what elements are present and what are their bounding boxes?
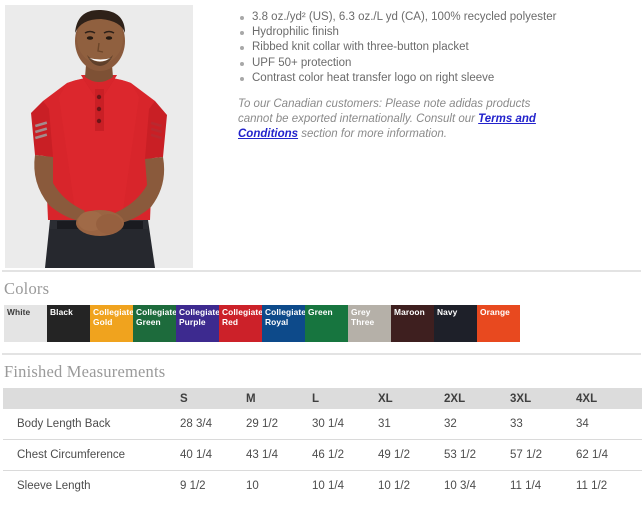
cell-value: 32 (444, 409, 510, 440)
color-swatch-label: Collegiate Gold (93, 307, 132, 327)
cell-value: 9 1/2 (180, 471, 246, 502)
cell-value: 30 1/4 (312, 409, 378, 440)
color-swatch[interactable]: Orange (477, 305, 520, 342)
color-swatch-row: White Black Collegiate Gold Collegiate G… (4, 305, 643, 342)
cell-value: 62 1/4 (576, 440, 642, 471)
list-item: Ribbed knit collar with three-button pla… (238, 40, 633, 55)
color-swatch[interactable]: White (4, 305, 47, 342)
color-swatch-label: Collegiate Purple (179, 307, 218, 327)
list-item: Contrast color heat transfer logo on rig… (238, 71, 633, 86)
product-photo[interactable] (5, 5, 193, 268)
list-item: Hydrophilic finish (238, 25, 633, 40)
color-swatch[interactable]: Collegiate Purple (176, 305, 219, 342)
table-header-row: S M L XL 2XL 3XL 4XL (3, 388, 642, 409)
row-label: Body Length Back (3, 409, 180, 440)
cell-value: 31 (378, 409, 444, 440)
measurements-heading: Finished Measurements (0, 355, 643, 388)
column-header-l: L (312, 388, 378, 409)
spec-text: Ribbed knit collar with three-button pla… (252, 41, 469, 53)
bullet-icon (240, 46, 244, 50)
cell-value: 46 1/2 (312, 440, 378, 471)
cell-value: 11 1/2 (576, 471, 642, 502)
table-row: Chest Circumference 40 1/4 43 1/4 46 1/2… (3, 440, 642, 471)
spec-text: UPF 50+ protection (252, 57, 351, 69)
canadian-customers-note: To our Canadian customers: Please note a… (238, 97, 568, 143)
row-label: Chest Circumference (3, 440, 180, 471)
color-swatch[interactable]: Black (47, 305, 90, 342)
spec-text: 3.8 oz./yd² (US), 6.3 oz./L yd (CA), 100… (252, 11, 556, 23)
cell-value: 28 3/4 (180, 409, 246, 440)
cell-value: 10 1/2 (378, 471, 444, 502)
measurements-table: S M L XL 2XL 3XL 4XL Body Length Back 28… (3, 388, 642, 501)
colors-section: Colors White Black Collegiate Gold Colle… (0, 270, 643, 353)
color-swatch[interactable]: Navy (434, 305, 477, 342)
column-header-3xl: 3XL (510, 388, 576, 409)
color-swatch-label: Collegiate Red (222, 307, 261, 327)
cell-value: 57 1/2 (510, 440, 576, 471)
cell-value: 40 1/4 (180, 440, 246, 471)
product-overview-section: 3.8 oz./yd² (US), 6.3 oz./L yd (CA), 100… (0, 0, 643, 270)
column-header-blank (3, 388, 180, 409)
table-row: Body Length Back 28 3/4 29 1/2 30 1/4 31… (3, 409, 642, 440)
spec-text: Hydrophilic finish (252, 26, 339, 38)
specifications-panel: 3.8 oz./yd² (US), 6.3 oz./L yd (CA), 100… (238, 10, 633, 154)
cell-value: 53 1/2 (444, 440, 510, 471)
cell-value: 34 (576, 409, 642, 440)
color-swatch[interactable]: Collegiate Red (219, 305, 262, 342)
cell-value: 10 1/4 (312, 471, 378, 502)
cell-value: 10 (246, 471, 312, 502)
bullet-icon (240, 62, 244, 66)
color-swatch-label: White (7, 307, 46, 317)
color-swatch-label: Grey Three (351, 307, 390, 327)
color-swatch-label: Collegiate Green (136, 307, 175, 327)
cell-value: 10 3/4 (444, 471, 510, 502)
color-swatch[interactable]: Grey Three (348, 305, 391, 342)
column-header-s: S (180, 388, 246, 409)
list-item: UPF 50+ protection (238, 56, 633, 71)
spec-text: Contrast color heat transfer logo on rig… (252, 72, 494, 84)
canada-note-part2: section for more information. (298, 128, 447, 140)
bullet-icon (240, 16, 244, 20)
color-swatch[interactable]: Green (305, 305, 348, 342)
color-swatch[interactable]: Maroon (391, 305, 434, 342)
bullet-icon (240, 77, 244, 81)
bullet-icon (240, 31, 244, 35)
measurements-section: Finished Measurements S M L XL 2XL 3XL 4… (0, 353, 643, 505)
cell-value: 43 1/4 (246, 440, 312, 471)
cell-value: 49 1/2 (378, 440, 444, 471)
color-swatch-label: Navy (437, 307, 476, 317)
row-label: Sleeve Length (3, 471, 180, 502)
product-photo-illustration (5, 5, 193, 268)
list-item: 3.8 oz./yd² (US), 6.3 oz./L yd (CA), 100… (238, 10, 633, 25)
column-header-4xl: 4XL (576, 388, 642, 409)
cell-value: 33 (510, 409, 576, 440)
cell-value: 11 1/4 (510, 471, 576, 502)
spec-bullet-list: 3.8 oz./yd² (US), 6.3 oz./L yd (CA), 100… (238, 10, 633, 86)
color-swatch-label: Maroon (394, 307, 433, 317)
column-header-xl: XL (378, 388, 444, 409)
color-swatch[interactable]: Collegiate Royal (262, 305, 305, 342)
table-row: Sleeve Length 9 1/2 10 10 1/4 10 1/2 10 … (3, 471, 642, 502)
column-header-2xl: 2XL (444, 388, 510, 409)
color-swatch-label: Collegiate Royal (265, 307, 304, 327)
cell-value: 29 1/2 (246, 409, 312, 440)
color-swatch[interactable]: Collegiate Gold (90, 305, 133, 342)
color-swatch-label: Green (308, 307, 347, 317)
color-swatch[interactable]: Collegiate Green (133, 305, 176, 342)
colors-heading: Colors (0, 272, 643, 305)
color-swatch-label: Black (50, 307, 89, 317)
column-header-m: M (246, 388, 312, 409)
color-swatch-label: Orange (480, 307, 519, 317)
